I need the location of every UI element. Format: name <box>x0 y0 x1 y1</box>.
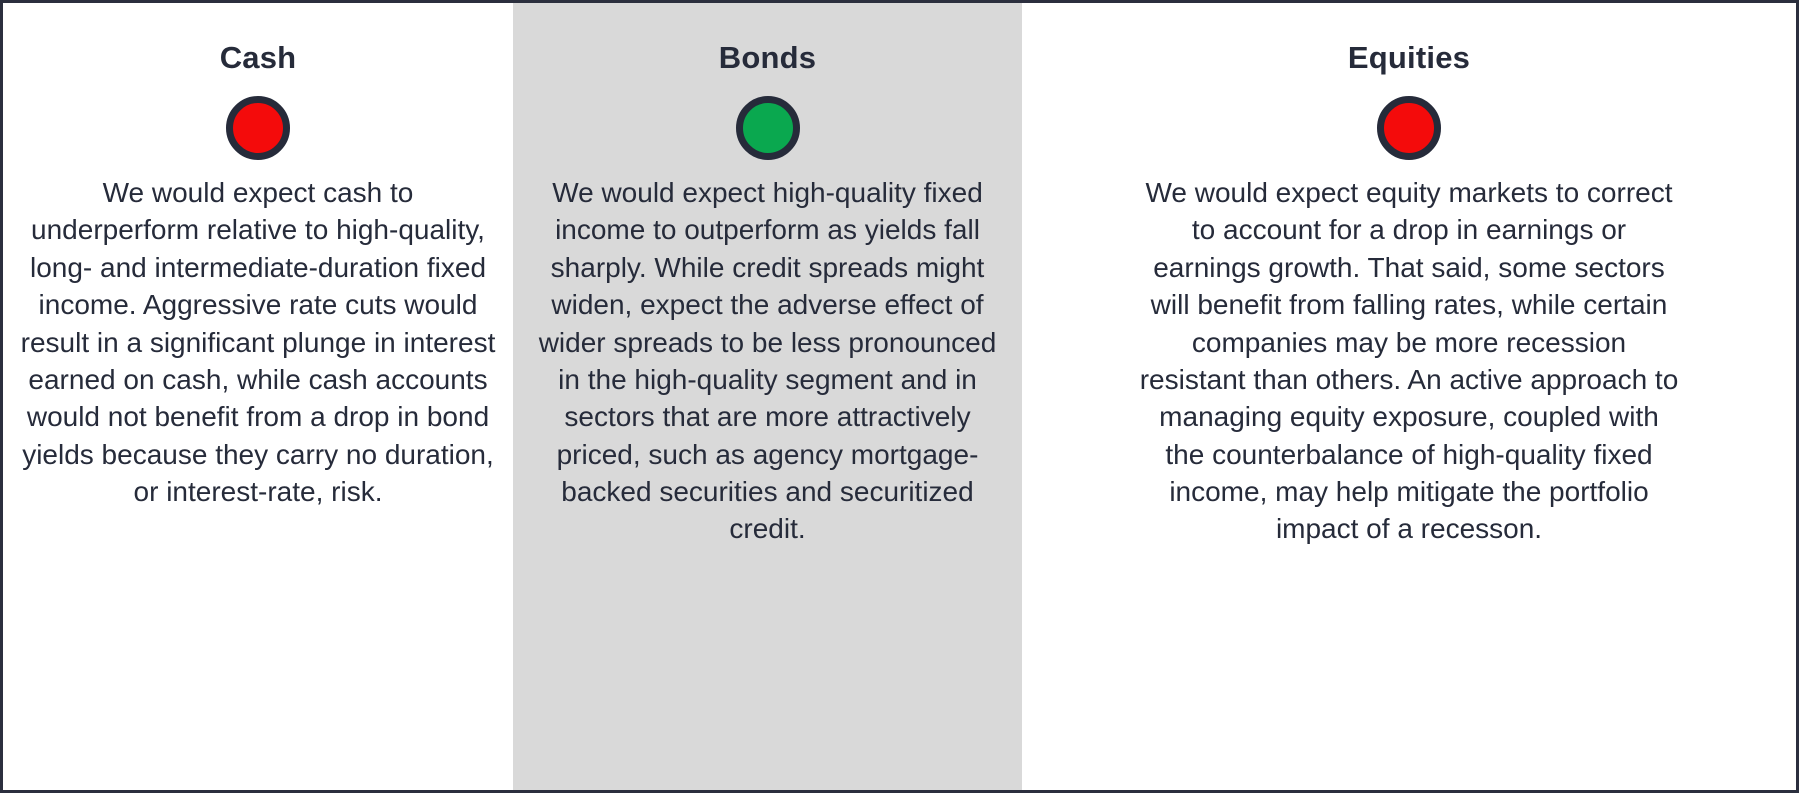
column-cash: Cash We would expect cash to underperfor… <box>3 3 513 790</box>
column-bonds: Bonds We would expect high-quality fixed… <box>513 3 1022 790</box>
signal-wrapper-bonds <box>513 96 1022 160</box>
asset-class-outlook-figure: Cash We would expect cash to underperfor… <box>0 0 1799 793</box>
column-title-cash: Cash <box>220 41 297 75</box>
column-equities: Equities We would expect equity markets … <box>1022 3 1796 790</box>
column-body-bonds: We would expect high-quality fixed incom… <box>513 174 1022 548</box>
column-body-cash: We would expect cash to underperform rel… <box>3 174 513 510</box>
column-title-bonds: Bonds <box>719 41 816 75</box>
column-body-equities: We would expect equity markets to correc… <box>1125 174 1693 548</box>
signal-wrapper-equities <box>1022 96 1796 160</box>
column-container: Cash We would expect cash to underperfor… <box>3 3 1796 790</box>
column-title-equities: Equities <box>1348 41 1470 75</box>
traffic-light-red-icon <box>226 96 290 160</box>
traffic-light-green-icon <box>736 96 800 160</box>
traffic-light-red-icon <box>1377 96 1441 160</box>
signal-wrapper-cash <box>3 96 513 160</box>
